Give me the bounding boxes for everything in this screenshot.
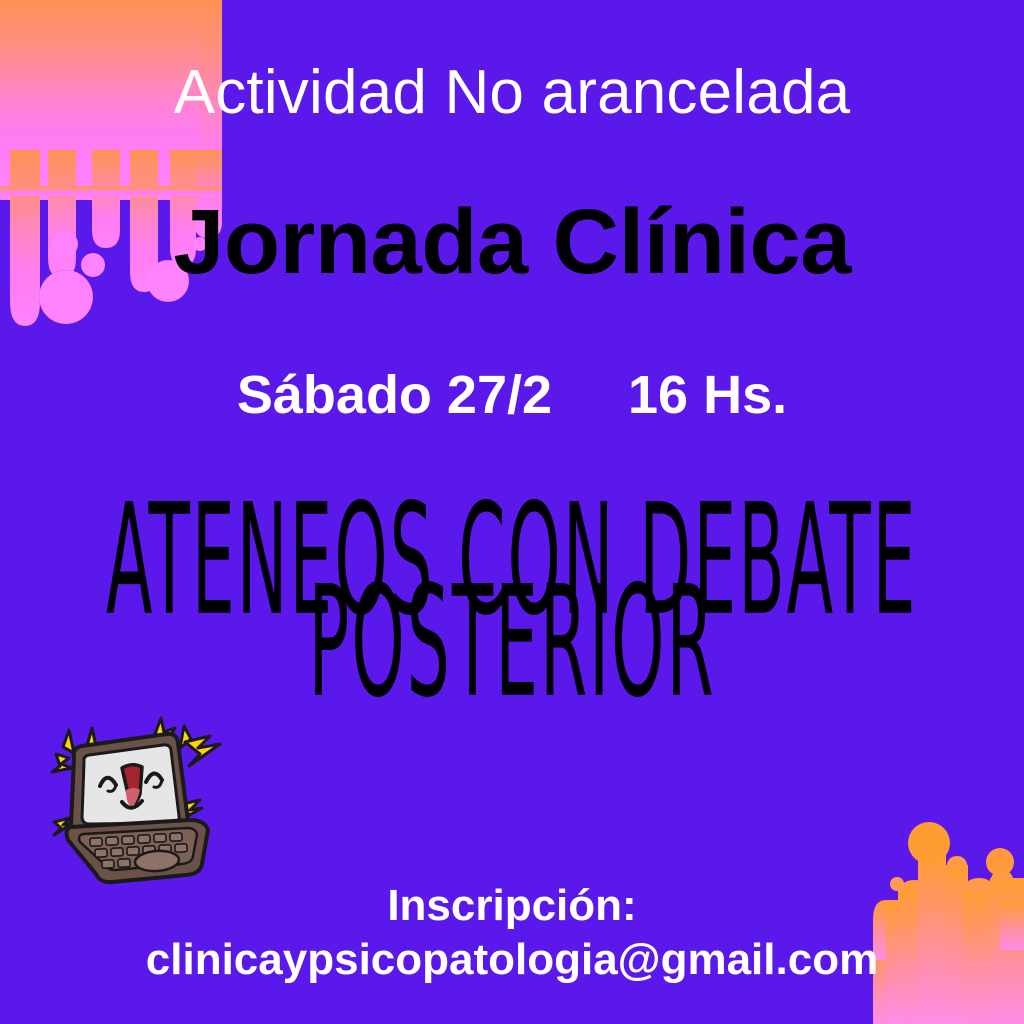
page-title: Jornada Clínica <box>0 196 1024 288</box>
poster-canvas: Actividad No arancelada Jornada Clínica … <box>0 0 1024 1024</box>
description-line-2-text: POSTERIOR <box>308 566 715 719</box>
kicker-text: Actividad No arancelada <box>0 62 1024 124</box>
smiling-laptop-icon <box>30 690 250 910</box>
description-line-2: POSTERIOR <box>0 588 1024 699</box>
schedule-line: Sábado 27/216 Hs. <box>0 368 1024 422</box>
schedule-time: 16 Hs. <box>628 365 787 425</box>
schedule-date: Sábado 27/2 <box>237 365 552 425</box>
signup-email[interactable]: clinicaypsicopatologia@gmail.com <box>0 938 1024 982</box>
signup-label: Inscripción: <box>0 884 1024 928</box>
